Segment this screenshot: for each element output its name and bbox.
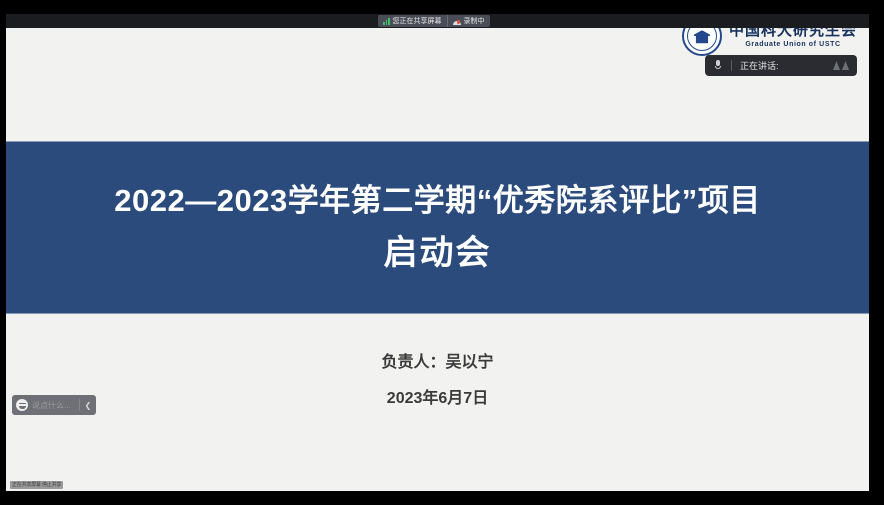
taskbar-share-caption: 正在共享屏幕 停止共享 (10, 481, 63, 489)
share-status-pill[interactable]: 您正在共享屏幕 录制中 (378, 15, 490, 27)
signal-bars-icon (383, 18, 390, 25)
organization-name-en: Graduate Union of USTC (745, 41, 840, 49)
presentation-slide: 中国科大研究生会 Graduate Union of USTC 2022—202… (6, 14, 869, 491)
screen-capture-frame: 中国科大研究生会 Graduate Union of USTC 2022—202… (0, 0, 884, 505)
slide-title-secondary: 启动会 (384, 233, 492, 274)
presenter-name: 负责人：吴以宁 (6, 350, 869, 376)
slide-title-band: 2022—2023学年第二学期“优秀院系评比”项目 启动会 (6, 141, 869, 314)
chat-input[interactable] (32, 401, 79, 410)
active-speaker-label: 正在讲话: (732, 59, 833, 72)
recording-indicator[interactable]: 录制中 (447, 15, 490, 27)
slide-title-primary: 2022—2023学年第二学期“优秀院系评比”项目 (114, 182, 760, 219)
microphone-button[interactable] (705, 60, 731, 71)
audio-waveform-icon (833, 61, 857, 70)
shared-screen-surface: 中国科大研究生会 Graduate Union of USTC 2022—202… (6, 14, 869, 491)
seal-building-glyph (694, 30, 710, 43)
presentation-date: 2023年6月7日 (6, 386, 869, 412)
record-icon (453, 18, 461, 25)
slide-presenter-block: 负责人：吴以宁 2023年6月7日 (6, 350, 869, 411)
chat-composer[interactable]: ❮ (12, 395, 96, 415)
chat-collapse-button[interactable]: ❮ (79, 399, 96, 411)
microphone-icon (715, 60, 721, 71)
share-status-bar: 您正在共享屏幕 录制中 (6, 14, 869, 28)
screen-sharing-label: 您正在共享屏幕 (393, 16, 442, 26)
recording-label: 录制中 (464, 16, 485, 26)
emoji-button[interactable] (12, 399, 32, 411)
active-speaker-bar[interactable]: 正在讲话: (705, 55, 857, 76)
screen-sharing-indicator[interactable]: 您正在共享屏幕 (378, 15, 447, 27)
emoji-smiley-icon (16, 399, 28, 411)
